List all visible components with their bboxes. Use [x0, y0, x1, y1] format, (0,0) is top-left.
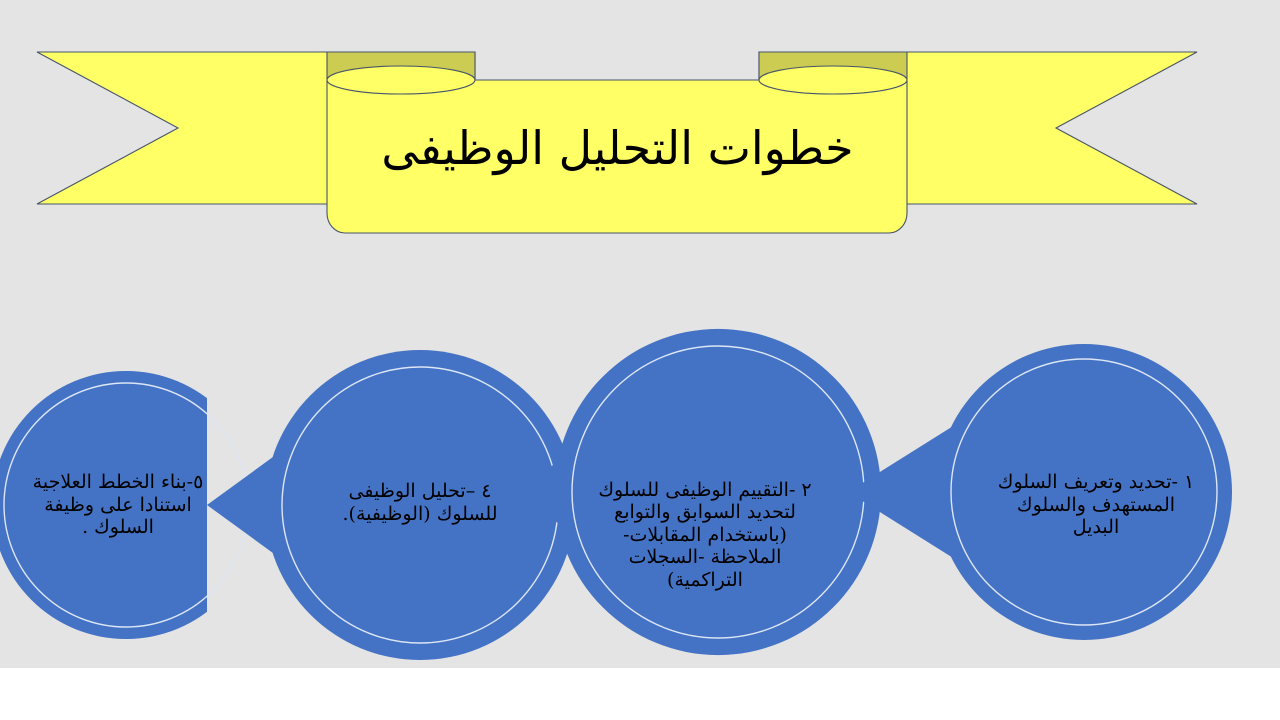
process-step-2-label: ٢ -التقييم الوظيفى للسلوك لتحديد السوابق…	[596, 430, 814, 640]
slide-canvas: خطوات التحليل الوظيفى ١ -تحديد وتعريف ال…	[0, 0, 1280, 668]
process-step-1-label: ١ -تحديد وتعريف السلوك المستهدف والسلوك …	[996, 440, 1196, 570]
slide-root: خطوات التحليل الوظيفى ١ -تحديد وتعريف ال…	[0, 0, 1280, 720]
process-step-4-label: ٤ –تحليل الوظيفى للسلوك (الوظيفية).	[320, 450, 520, 555]
process-step-5-label: ٥-بناء الخطط العلاجية استنادا على وظيفة …	[18, 440, 218, 570]
slide-title: خطوات التحليل الوظيفى	[330, 98, 905, 198]
